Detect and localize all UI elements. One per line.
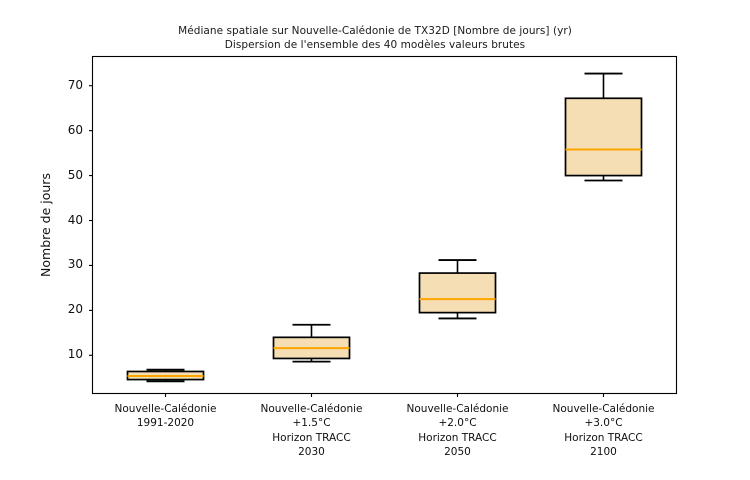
x-tick-label-line: Nouvelle-Calédonie [529,402,679,417]
y-tick-label: 50 [43,168,83,182]
x-tick-label-line: Horizon TRACC [383,431,533,446]
boxplot-series [128,74,642,382]
x-tick-label-line: +1.5°C [237,416,387,431]
x-tick-label-line: 2100 [529,445,679,460]
y-tick-label: 10 [43,347,83,361]
x-tick-label-group-4: Nouvelle-Calédonie+3.0°CHorizon TRACC210… [529,402,679,460]
y-tick-label: 40 [43,213,83,227]
y-tick-label: 60 [43,123,83,137]
x-tick-label-line: 2050 [383,445,533,460]
x-tick-label-line: Nouvelle-Calédonie [237,402,387,417]
x-tick-label-group-1: Nouvelle-Calédonie1991-2020 [91,402,241,431]
x-tick-label-group-3: Nouvelle-Calédonie+2.0°CHorizon TRACC205… [383,402,533,460]
boxplot-4 [566,74,642,181]
x-tick-label-line: 1991-2020 [91,416,241,431]
x-tick-label-line: Horizon TRACC [237,431,387,446]
x-tick-label-line: 2030 [237,445,387,460]
x-tick-label-line: Horizon TRACC [529,431,679,446]
y-tick-label: 20 [43,302,83,316]
y-tick-label: 30 [43,257,83,271]
y-tick-label: 70 [43,78,83,92]
boxplot-3 [420,260,496,318]
x-tick-label-line: +3.0°C [529,416,679,431]
boxplot-2 [274,325,350,362]
x-tick-label-group-2: Nouvelle-Calédonie+1.5°CHorizon TRACC203… [237,402,387,460]
x-tick-label-line: Nouvelle-Calédonie [91,402,241,417]
x-tick-label-line: +2.0°C [383,416,533,431]
boxplot-1 [128,370,204,382]
figure-canvas: Médiane spatiale sur Nouvelle-Calédonie … [0,0,750,480]
x-tick-label-line: Nouvelle-Calédonie [383,402,533,417]
